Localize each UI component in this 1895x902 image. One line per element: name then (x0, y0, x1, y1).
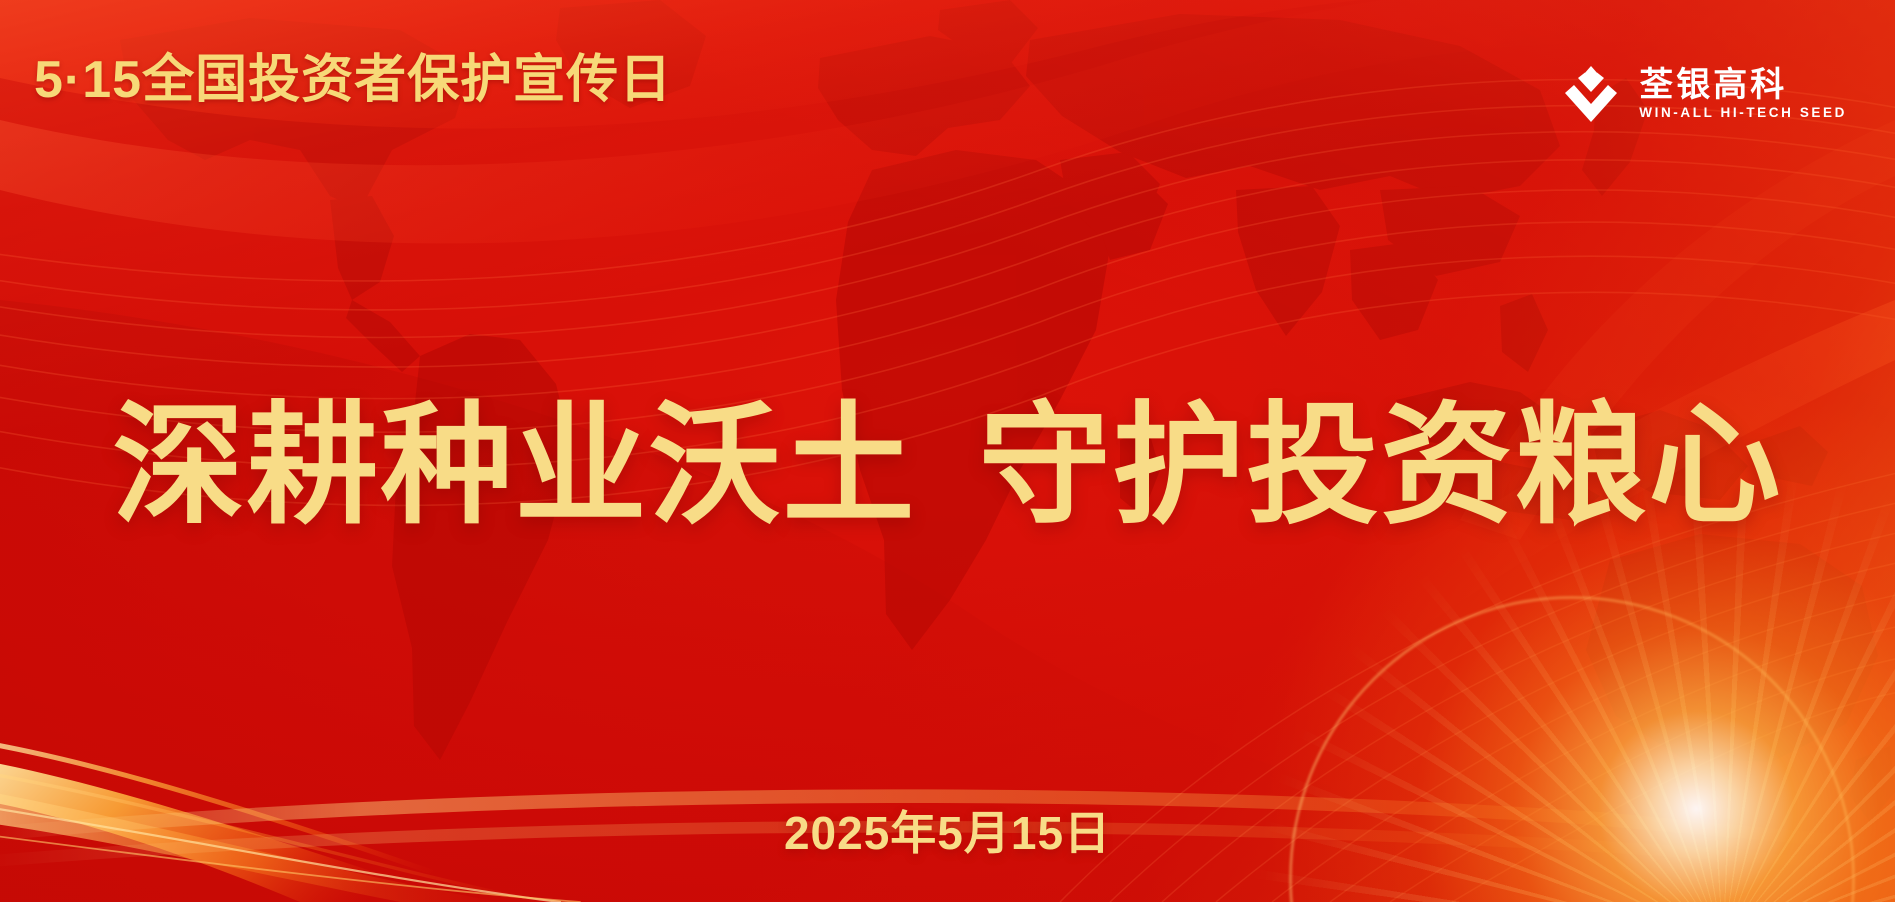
logo-name-cn: 荃银高科 (1639, 68, 1847, 102)
headline-part-2: 守护投资粮心 (979, 392, 1783, 539)
chevron-seed-mark-icon (1560, 63, 1622, 125)
event-subtitle: 5·15全国投资者保护宣传日 (34, 54, 672, 106)
logo-wordmark: 荃银高科 WIN-ALL HI-TECH SEED (1639, 68, 1847, 120)
company-logo: 荃银高科 WIN-ALL HI-TECH SEED (1560, 56, 1847, 132)
event-date: 2025年5月15日 (0, 810, 1895, 856)
headline-part-1: 深耕种业沃土 (113, 392, 917, 539)
headline: 深耕种业沃土守护投资粮心 (0, 400, 1895, 532)
investor-protection-banner: 5·15全国投资者保护宣传日 荃银高科 WIN-ALL HI-TECH SEED… (0, 0, 1895, 902)
logo-name-en: WIN-ALL HI-TECH SEED (1639, 106, 1847, 120)
